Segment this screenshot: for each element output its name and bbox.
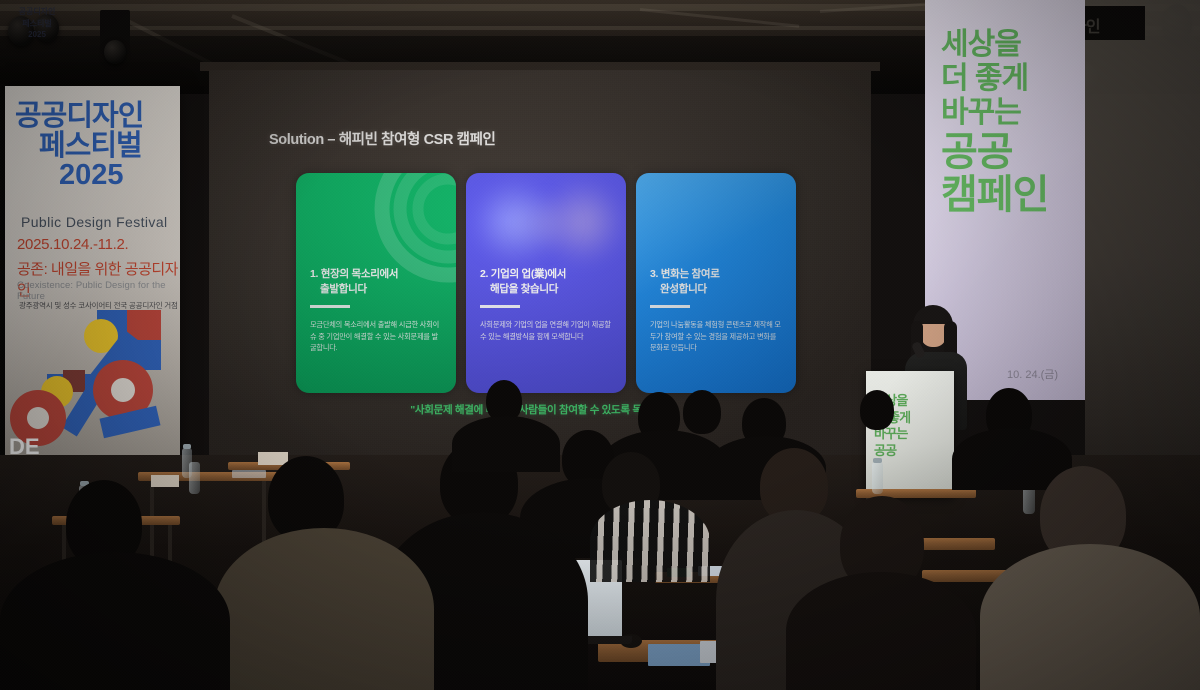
paper-sheet <box>232 470 266 478</box>
photo-scene: 공공디자인 페스티벌 2025 공공디자인 공공디자인 페스티벌 2025 Pu… <box>0 0 1200 690</box>
name-card <box>151 475 179 487</box>
audience-shoulders <box>214 528 434 690</box>
audience-head <box>683 390 721 434</box>
water-bottle <box>872 462 883 494</box>
bottle-cap <box>873 458 882 463</box>
audience-head <box>860 390 894 430</box>
bottle-cap <box>183 444 191 449</box>
audience-shoulders <box>0 552 230 690</box>
audience-shoulders <box>452 416 560 472</box>
audience-foreground <box>0 0 1200 690</box>
audience-shoulders <box>980 544 1200 690</box>
water-bottle <box>189 462 200 494</box>
audience-shoulders <box>786 572 976 690</box>
audience-shoulders-striped <box>590 500 710 582</box>
